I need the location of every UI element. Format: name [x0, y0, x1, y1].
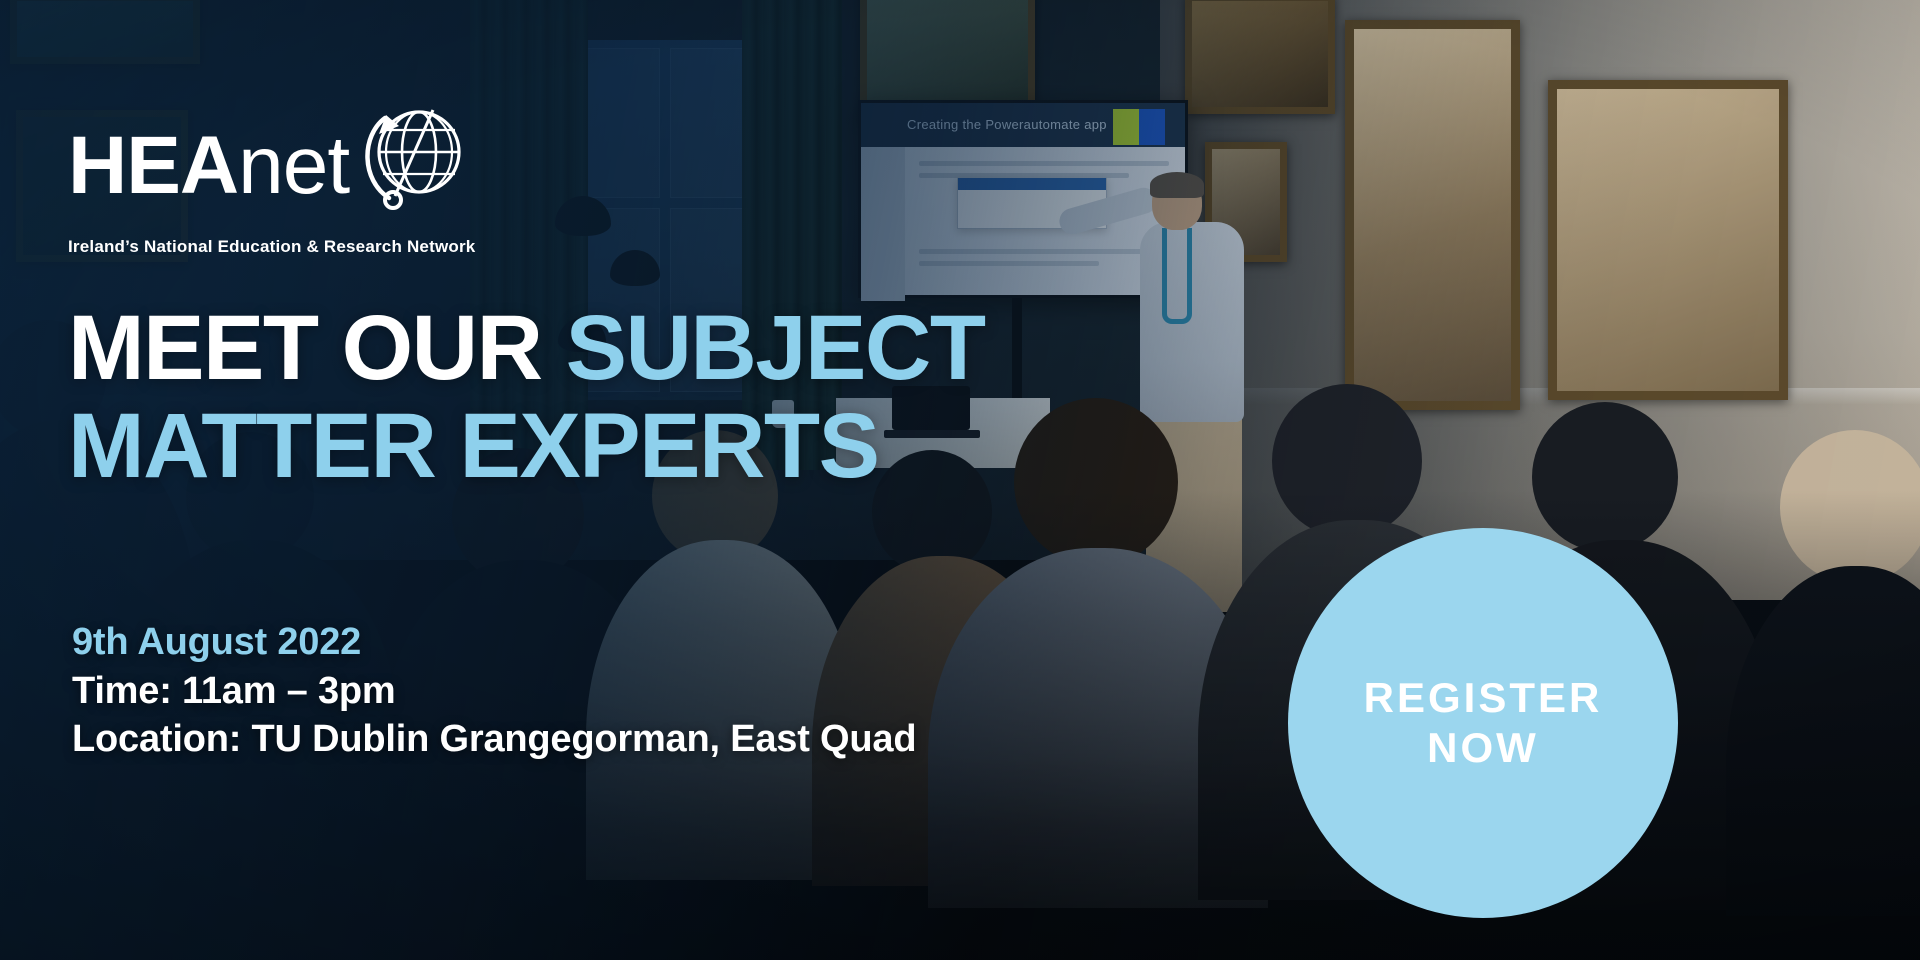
logo-text-hea: HEA [68, 120, 238, 211]
event-time: Time: 11am – 3pm [72, 667, 916, 716]
headline-block: MEET OUR SUBJECT MATTER EXPERTS [68, 300, 985, 495]
headline-line-2: MATTER EXPERTS [68, 398, 985, 496]
headline-text-white: MEET OUR [68, 297, 566, 399]
overlay-content: HEAnet Ireland’s [0, 0, 1920, 960]
event-location: Location: TU Dublin Grangegorman, East Q… [72, 715, 916, 764]
headline-text-accent: SUBJECT [566, 297, 985, 399]
event-date: 9th August 2022 [72, 618, 916, 667]
logo-text-net: net [238, 120, 349, 211]
globe-network-icon [355, 100, 467, 223]
promotional-banner: Creating the Powerautomate app [0, 0, 1920, 960]
register-label-line-2: NOW [1427, 723, 1539, 773]
headline-line-1: MEET OUR SUBJECT [68, 300, 985, 398]
event-details: 9th August 2022 Time: 11am – 3pm Locatio… [72, 618, 916, 764]
heanet-logo: HEAnet Ireland’s [68, 128, 475, 257]
register-label-line-1: REGISTER [1364, 673, 1603, 723]
logo-tagline: Ireland’s National Education & Research … [68, 237, 475, 257]
register-now-button[interactable]: REGISTER NOW [1288, 528, 1678, 918]
logo-wordmark: HEAnet [68, 128, 349, 203]
